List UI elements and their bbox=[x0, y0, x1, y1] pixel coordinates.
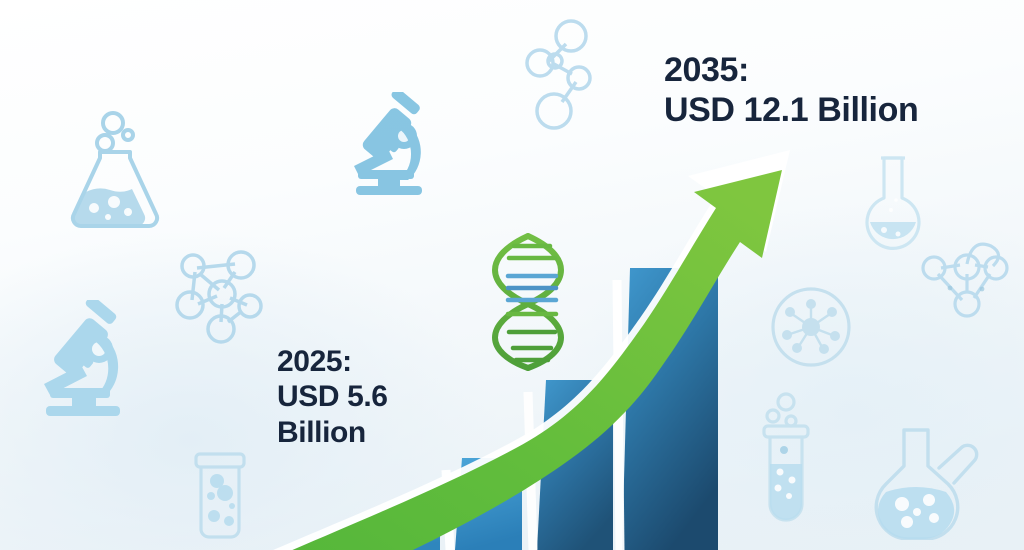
start-value-label: 2025: USD 5.6 Billion bbox=[277, 344, 388, 450]
end-value-label: 2035: USD 12.1 Billion bbox=[664, 50, 918, 130]
dna-helix-icon bbox=[495, 236, 561, 368]
infographic-canvas: 2035: USD 12.1 Billion 2025: USD 5.6 Bil… bbox=[0, 0, 1024, 550]
